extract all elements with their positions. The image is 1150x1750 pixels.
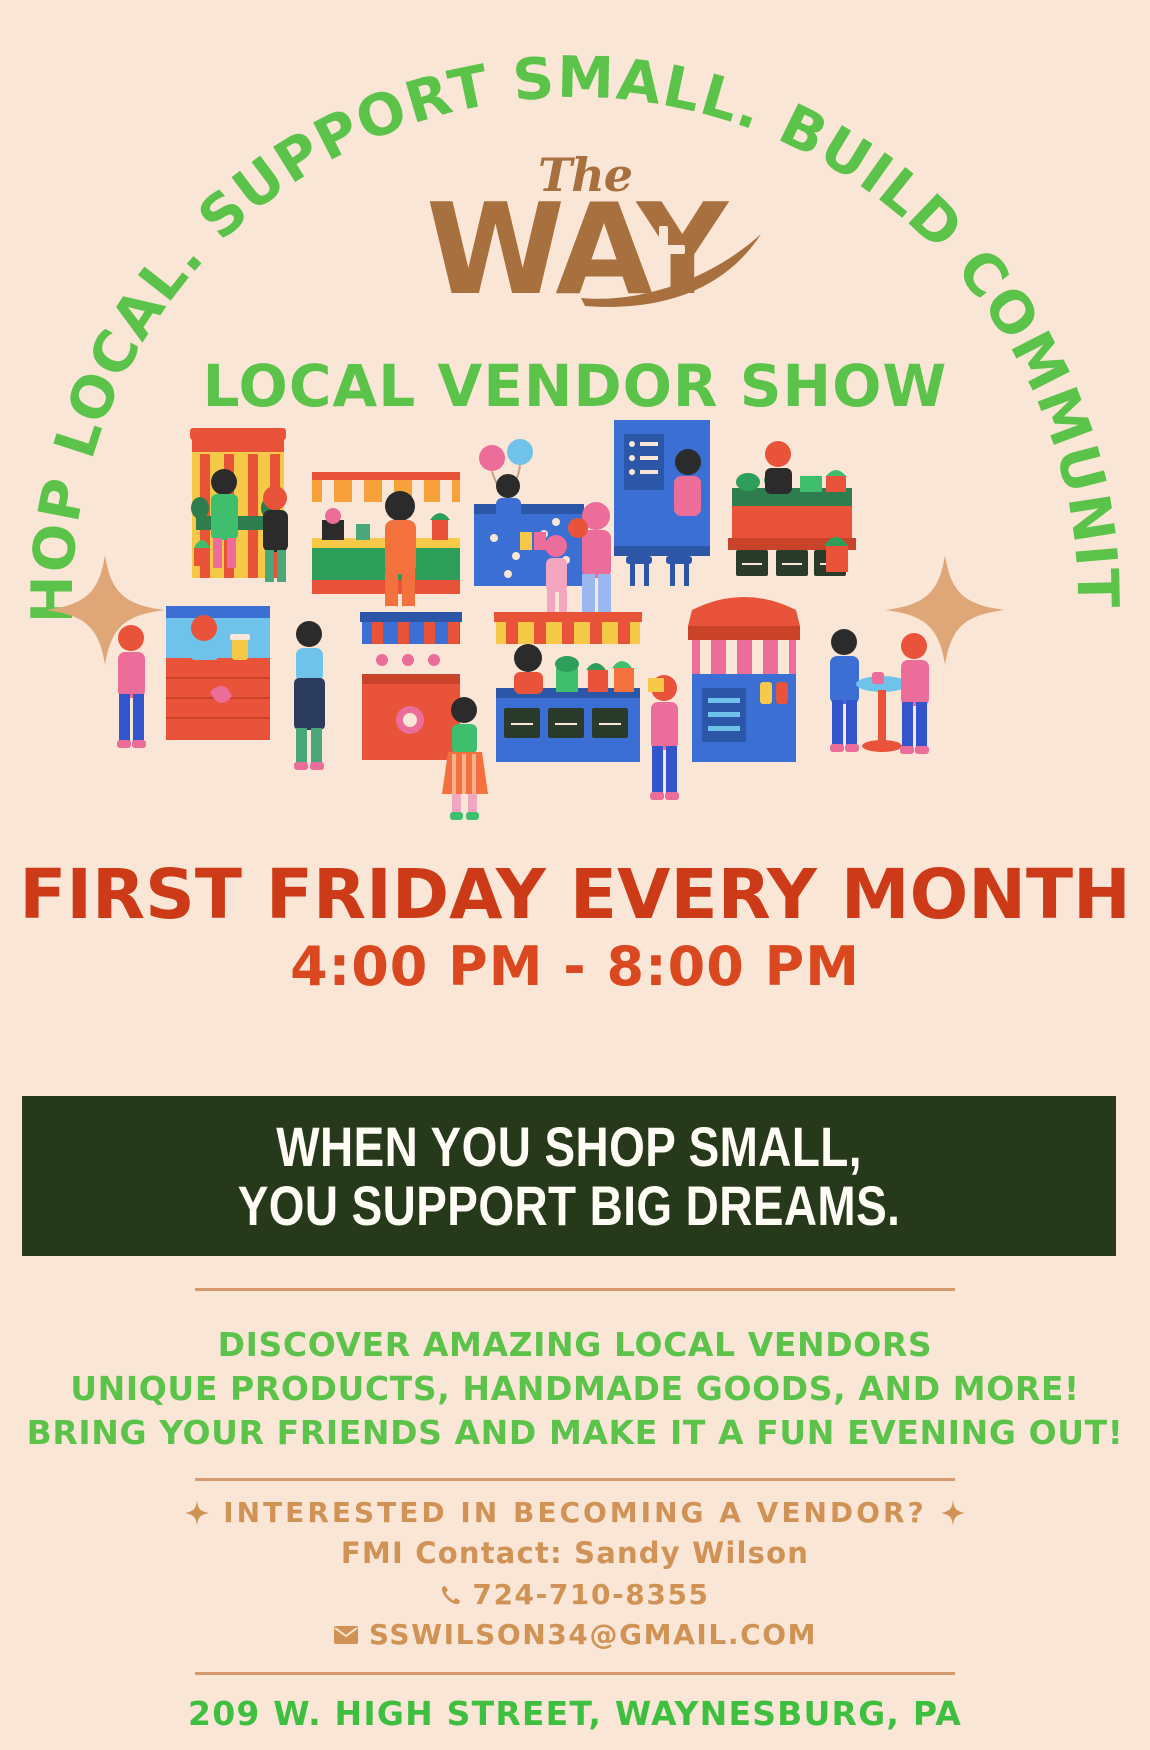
stall-2	[312, 472, 460, 614]
divider-middle	[195, 1478, 955, 1481]
stall-9	[688, 597, 800, 762]
venue-address: 209 W. HIGH STREET, WAYNESBURG, PA	[0, 1694, 1150, 1733]
tagline-banner: WHEN YOU SHOP SMALL, YOU SUPPORT BIG DRE…	[22, 1096, 1116, 1256]
logo-wordmark: WAY	[426, 186, 724, 315]
phone-number: 724-710-8355	[472, 1578, 709, 1611]
vendor-fmi-contact: FMI Contact: Sandy Wilson	[0, 1536, 1150, 1570]
phone-icon	[440, 1584, 462, 1606]
poster-root: SHOP LOCAL. SUPPORT SMALL. BUILD COMMUNI…	[0, 0, 1150, 1750]
page-title: LOCAL VENDOR SHOW	[0, 352, 1150, 420]
stall-6	[166, 606, 270, 740]
event-time: 4:00 PM - 8:00 PM	[0, 935, 1150, 998]
description-line-2: UNIQUE PRODUCTS, HANDMADE GOODS, AND MOR…	[0, 1366, 1150, 1413]
cafe-table	[856, 672, 908, 752]
stall-8	[494, 612, 642, 762]
event-day: FIRST FRIDAY EVERY MONTH	[0, 855, 1150, 935]
vendor-cta-heading: INTERESTED IN BECOMING A VENDOR?	[0, 1496, 1150, 1529]
logo-main-word: WAY	[426, 186, 724, 315]
tagline-line-1: WHEN YOU SHOP SMALL,	[276, 1117, 862, 1176]
stall-4	[614, 420, 710, 586]
stall-5	[728, 441, 856, 576]
tagline-line-2: YOU SUPPORT BIG DREAMS.	[238, 1176, 901, 1235]
shopper-2	[117, 625, 146, 748]
shopper-5	[830, 629, 859, 752]
stall-7	[360, 612, 462, 760]
divider-top	[195, 1288, 955, 1291]
four-point-star-icon	[185, 1500, 209, 1526]
email-row[interactable]: SSWILSON34@GMAIL.COM	[0, 1618, 1150, 1651]
stall-3	[474, 439, 584, 586]
four-point-star-icon	[941, 1500, 965, 1526]
divider-bottom	[195, 1672, 955, 1675]
logo: The WAY	[0, 148, 1150, 315]
description-line-1: DISCOVER AMAZING LOCAL VENDORS	[0, 1322, 1150, 1369]
envelope-icon	[333, 1625, 359, 1645]
shopper-6	[900, 633, 929, 754]
shopper-4	[648, 675, 679, 800]
email-address: SSWILSON34@GMAIL.COM	[369, 1618, 817, 1651]
vendor-market-illustration	[0, 420, 1150, 840]
description-line-3: BRING YOUR FRIENDS AND MAKE IT A FUN EVE…	[0, 1410, 1150, 1457]
phone-row[interactable]: 724-710-8355	[0, 1578, 1150, 1611]
vendor-cta-text: INTERESTED IN BECOMING A VENDOR?	[223, 1496, 927, 1529]
shopper-3	[294, 621, 325, 770]
